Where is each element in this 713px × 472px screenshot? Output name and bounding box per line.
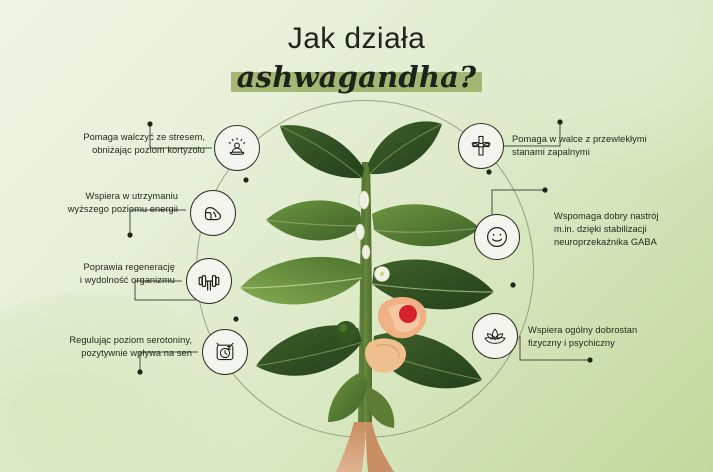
benefit-icon-mood[interactable] (474, 214, 520, 260)
benefit-icon-energy[interactable] (190, 190, 236, 236)
benefit-label-mood: Wspomaga dobry nastrój m.in. dzięki stab… (554, 210, 704, 249)
benefit-label-inflammation: Pomaga w walce z przewlekłymi stanami za… (512, 133, 692, 159)
benefit-label-regeneration: Poprawia regenerację i wydolność organiz… (30, 261, 175, 287)
lotus-icon (481, 323, 509, 349)
sleep-clock-icon (212, 339, 238, 365)
benefit-label-wellbeing: Wspiera ogólny dobrostan fizyczny i psyc… (528, 324, 696, 350)
joint-inflammation-icon (468, 133, 494, 159)
benefit-icon-regeneration[interactable] (186, 258, 232, 304)
page-title: Jak działa ashwagandha? (0, 22, 713, 94)
benefit-label-sleep: Regulując poziom serotoniny, pozytywnie … (24, 334, 192, 360)
meditation-icon (224, 135, 250, 161)
title-line-1: Jak działa (0, 22, 713, 56)
benefit-icon-wellbeing[interactable] (472, 313, 518, 359)
dumbbell-icon (196, 268, 222, 294)
benefit-icon-inflammation[interactable] (458, 123, 504, 169)
bicep-icon (200, 200, 226, 226)
benefit-icon-sleep[interactable] (202, 329, 248, 375)
benefit-label-stress: Pomaga walczyć ze stresem, obniżając poz… (30, 131, 205, 157)
infographic-canvas: Jak działa ashwagandha? (0, 0, 713, 472)
benefit-icon-stress[interactable] (214, 125, 260, 171)
title-line-2-holder: ashwagandha? (237, 60, 477, 94)
smiley-icon (483, 223, 511, 251)
title-line-2: ashwagandha? (237, 60, 477, 94)
benefit-label-energy: Wspiera w utrzymaniu wyższego poziomu en… (30, 190, 178, 216)
